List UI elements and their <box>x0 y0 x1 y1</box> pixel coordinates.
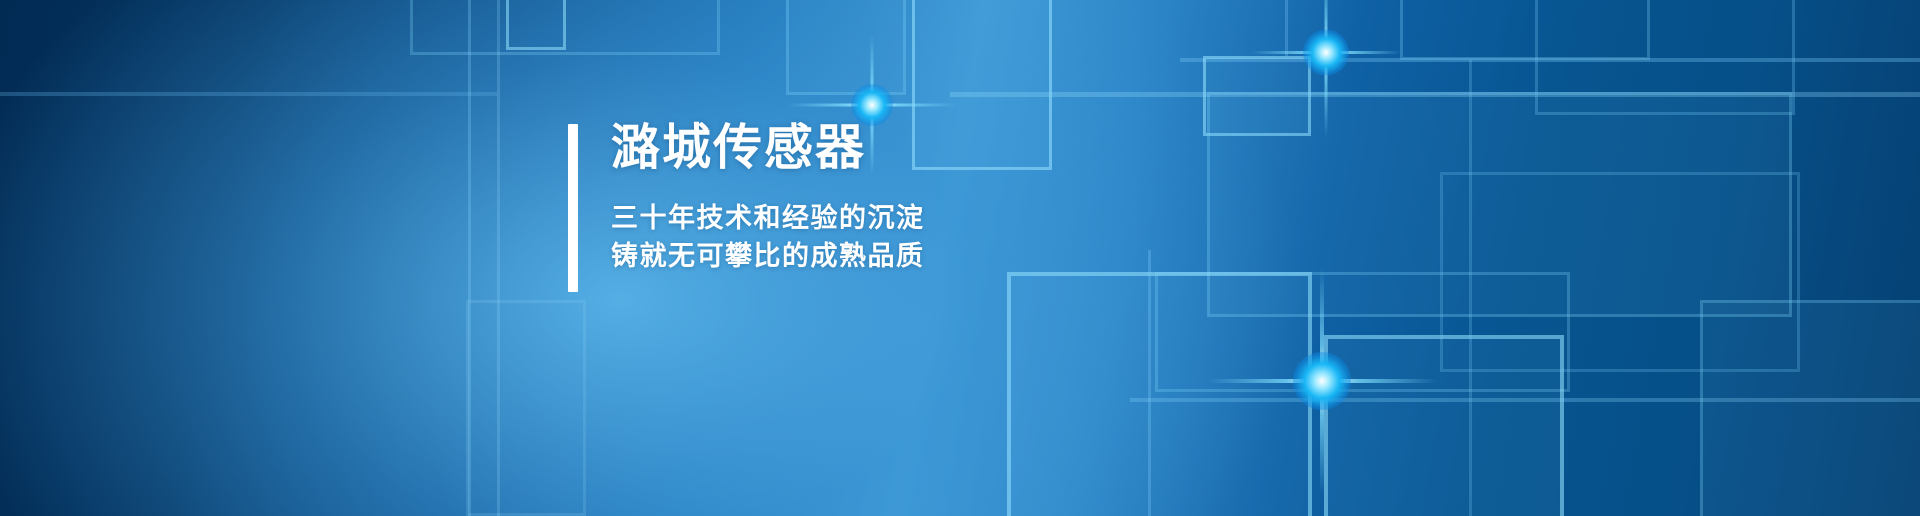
outline-rect <box>1203 56 1311 136</box>
outline-rect <box>1700 300 1920 516</box>
outline-rect <box>1155 272 1570 392</box>
outline-rect <box>1324 335 1564 516</box>
outline-rect <box>466 300 586 516</box>
banner-subtitle-line: 铸就无可攀比的成熟品质 <box>611 237 925 275</box>
accent-bar <box>568 124 578 292</box>
outline-rect <box>1400 0 1650 60</box>
hairline-horizontal <box>1130 398 1920 402</box>
hairline-vertical <box>497 0 500 516</box>
banner-text-block: 潞城传感器 三十年技术和经验的沉淀 铸就无可攀比的成熟品质 <box>568 124 925 292</box>
lens-flare-star-icon <box>1207 266 1437 496</box>
outline-rect <box>1007 272 1312 516</box>
hairline-vertical <box>1285 0 1288 56</box>
hero-banner: 潞城传感器 三十年技术和经验的沉淀 铸就无可攀比的成熟品质 <box>0 0 1920 516</box>
hairline-horizontal <box>950 92 1920 97</box>
outline-rect <box>506 0 566 50</box>
outline-rect <box>786 0 906 95</box>
outline-rect <box>1207 92 1792 317</box>
outline-rect <box>410 0 720 55</box>
outline-rect <box>912 0 1052 170</box>
banner-subtitle-line: 三十年技术和经验的沉淀 <box>611 199 925 237</box>
banner-text-column: 潞城传感器 三十年技术和经验的沉淀 铸就无可攀比的成熟品质 <box>578 124 925 292</box>
hairline-vertical <box>468 0 471 516</box>
outline-rect <box>1535 0 1795 115</box>
hairline-horizontal <box>0 92 497 96</box>
hairline-horizontal <box>1180 58 1920 62</box>
outline-rect <box>1440 172 1800 372</box>
hairline-vertical <box>1148 250 1151 516</box>
lens-flare-star-icon <box>1251 0 1401 140</box>
banner-subtitle-list: 三十年技术和经验的沉淀 铸就无可攀比的成熟品质 <box>611 199 925 276</box>
hairline-vertical <box>1469 60 1472 516</box>
banner-title: 潞城传感器 <box>611 124 925 173</box>
